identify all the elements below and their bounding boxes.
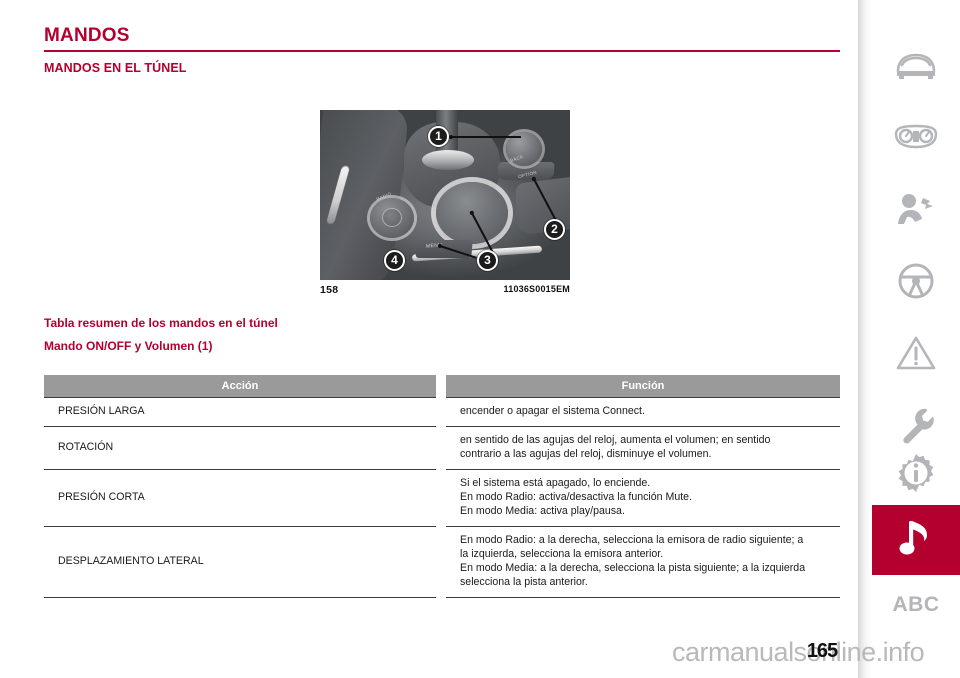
title-divider: [44, 50, 840, 52]
cell-line: encender o apagar el sistema Connect.: [460, 405, 836, 419]
figure-gear-lever-collar: [422, 150, 474, 170]
table-subheading: Mando ON/OFF y Volumen (1): [44, 339, 212, 353]
sidebar-shadow: [858, 0, 872, 678]
cell-function: en sentido de las agujas del reloj, aume…: [446, 426, 840, 469]
table-body: PRESIÓN LARGA encender o apagar el siste…: [44, 397, 840, 598]
cell-line: En modo Media: activa play/pausa.: [460, 505, 836, 519]
table-row: ROTACIÓN en sentido de las agujas del re…: [44, 426, 840, 469]
callout-leader-1: [451, 136, 521, 138]
site-watermark: carmanualsonline.info: [672, 637, 924, 668]
callout-badge-1: 1: [428, 126, 449, 147]
sidebar-item-steering-wheel[interactable]: [872, 250, 960, 316]
info-gear-icon: [896, 453, 936, 498]
page-number: 165: [807, 640, 837, 663]
cell-line: selecciona la pista anterior.: [460, 576, 836, 590]
cell-line: En modo Radio: a la derecha, selecciona …: [460, 534, 836, 548]
cell-line: la izquierda, selecciona la emisora ante…: [460, 548, 836, 562]
sidebar-item-dashboard[interactable]: [872, 106, 960, 172]
cell-line: En modo Radio: activa/desactiva la funci…: [460, 491, 836, 505]
cell-gap: [436, 469, 446, 526]
table-heading: Tabla resumen de los mandos en el túnel: [44, 316, 278, 330]
controls-table-wrapper: Acción Función PRESIÓN LARGA encender o …: [44, 375, 840, 598]
sidebar-item-multimedia[interactable]: [872, 505, 960, 575]
abc-index-label: ABC: [893, 593, 940, 617]
manual-page: MANDOS MANDOS EN EL TÚNEL MENU RADIO OPT…: [0, 0, 960, 678]
table-row: DESPLAZAMIENTO LATERAL En modo Radio: a …: [44, 526, 840, 598]
cell-line: en sentido de las agujas del reloj, aume…: [460, 434, 836, 448]
sidebar-item-warning[interactable]: [872, 322, 960, 388]
figure-number: 158: [320, 284, 338, 296]
column-gap: [436, 375, 446, 397]
cell-function: En modo Radio: a la derecha, selecciona …: [446, 526, 840, 598]
sidebar-item-alphabetical-index[interactable]: ABC: [872, 572, 960, 638]
figure-drive-mode-dial-center: [382, 208, 402, 227]
sidebar-item-airbag-safety[interactable]: [872, 178, 960, 244]
cell-gap: [436, 526, 446, 598]
dashboard-icon: [893, 122, 939, 157]
music-note-icon: [899, 518, 933, 563]
cell-line: En modo Media: a la derecha, selecciona …: [460, 562, 836, 576]
figure-code: 11036S0015EM: [504, 284, 570, 294]
section-title: MANDOS EN EL TÚNEL: [44, 61, 187, 75]
car-front-icon: [893, 50, 939, 85]
figure-menu-button: [415, 240, 473, 258]
callout-badge-3: 3: [477, 250, 498, 271]
callout-badge-4: 4: [384, 250, 405, 271]
steering-wheel-icon: [897, 262, 935, 305]
sidebar-item-info[interactable]: [872, 442, 960, 508]
column-header-function: Función: [446, 375, 840, 397]
page-content: MANDOS MANDOS EN EL TÚNEL MENU RADIO OPT…: [0, 0, 858, 678]
cell-function: Si el sistema está apagado, lo enciende.…: [446, 469, 840, 526]
console-figure: MENU RADIO OPTION BACK 1 2 3 4: [320, 110, 570, 280]
cell-action: PRESIÓN LARGA: [44, 397, 436, 426]
cell-gap: [436, 397, 446, 426]
table-row: PRESIÓN LARGA encender o apagar el siste…: [44, 397, 840, 426]
cell-function: encender o apagar el sistema Connect.: [446, 397, 840, 426]
cell-line: Si el sistema está apagado, lo enciende.: [460, 477, 836, 491]
table-header-row: Acción Función: [44, 375, 840, 397]
warning-triangle-icon: [896, 335, 936, 376]
cell-line: contrario a las agujas del reloj, dismin…: [460, 448, 836, 462]
table-row: PRESIÓN CORTA Si el sistema está apagado…: [44, 469, 840, 526]
chapter-index-sidebar: ABC: [858, 0, 960, 678]
column-header-action: Acción: [44, 375, 436, 397]
sidebar-item-car-front[interactable]: [872, 34, 960, 100]
cell-action: PRESIÓN CORTA: [44, 469, 436, 526]
cell-action: ROTACIÓN: [44, 426, 436, 469]
table-head: Acción Función: [44, 375, 840, 397]
cell-action: DESPLAZAMIENTO LATERAL: [44, 526, 436, 598]
page-title: MANDOS: [44, 26, 130, 45]
controls-table: Acción Función PRESIÓN LARGA encender o …: [44, 375, 840, 598]
airbag-safety-icon: [895, 192, 937, 231]
callout-badge-2: 2: [544, 219, 565, 240]
cell-gap: [436, 426, 446, 469]
